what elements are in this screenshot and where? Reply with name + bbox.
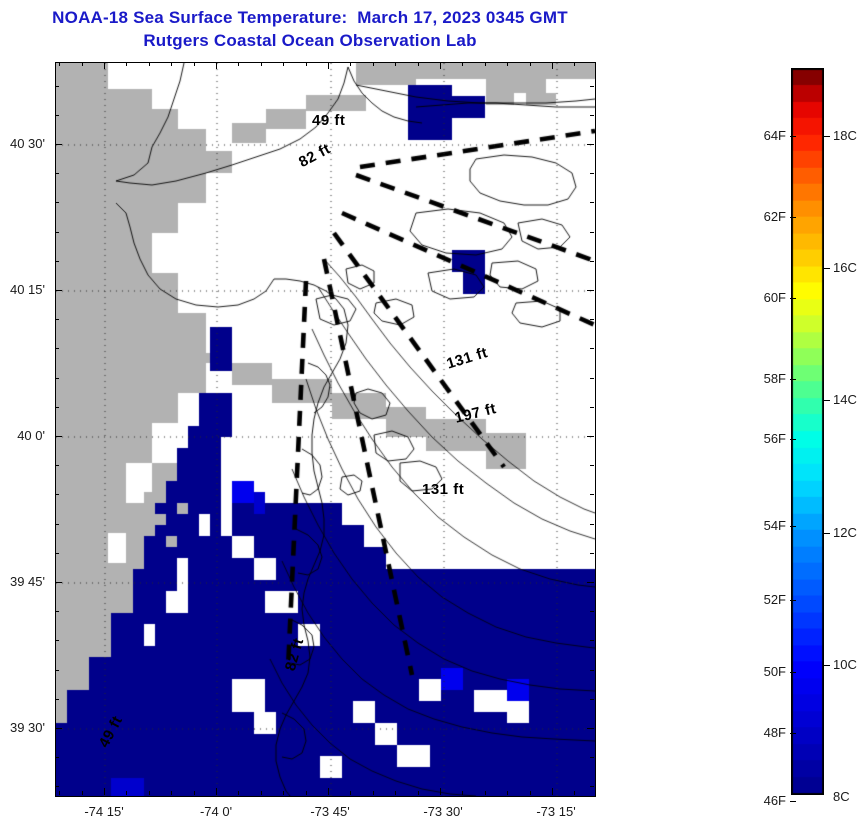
colorbar-f-label-7: 50F <box>740 664 786 679</box>
colorbar-f-label-9: 46F <box>740 793 786 808</box>
x-axis-tick <box>82 62 83 66</box>
y-axis-tick <box>587 728 594 729</box>
y-axis-tick <box>590 640 594 641</box>
y-axis-tick <box>55 699 59 700</box>
y-axis-tick <box>590 786 594 787</box>
y-axis-label-3: 39 45' <box>0 574 45 589</box>
x-axis-tick <box>350 62 351 66</box>
colorbar-c-label-1: 16C <box>833 260 857 275</box>
x-axis-tick <box>328 62 329 69</box>
x-axis-tick <box>171 62 172 66</box>
x-axis-tick <box>59 791 60 795</box>
x-axis-tick <box>440 788 441 795</box>
y-axis-label-4: 39 30' <box>0 720 45 735</box>
x-axis-tick <box>485 791 486 795</box>
x-axis-tick <box>306 62 307 66</box>
colorbar-f-tick <box>790 217 796 218</box>
y-axis-tick <box>590 232 594 233</box>
colorbar-f-tick <box>790 439 796 440</box>
y-axis-tick <box>55 232 59 233</box>
x-axis-tick <box>373 791 374 795</box>
y-axis-tick <box>55 670 59 671</box>
sst-map-panel[interactable] <box>55 62 596 797</box>
colorbar <box>791 68 824 795</box>
colorbar-c-tick <box>824 136 830 137</box>
colorbar-c-label-2: 14C <box>833 392 857 407</box>
colorbar-c-tick <box>824 268 830 269</box>
y-axis-tick <box>590 757 594 758</box>
colorbar-c-tick <box>824 533 830 534</box>
x-axis-tick <box>440 62 441 69</box>
x-axis-tick <box>104 788 105 795</box>
y-axis-tick <box>590 115 594 116</box>
y-axis-tick <box>55 611 59 612</box>
y-axis-tick <box>55 348 59 349</box>
y-axis-tick <box>590 524 594 525</box>
y-axis-tick <box>590 611 594 612</box>
x-axis-tick <box>306 791 307 795</box>
colorbar-f-tick <box>790 801 796 802</box>
x-axis-tick <box>194 62 195 66</box>
y-axis-tick <box>55 290 62 291</box>
x-axis-tick <box>283 791 284 795</box>
y-axis-tick <box>590 407 594 408</box>
colorbar-f-tick <box>790 136 796 137</box>
x-axis-label-4: -73 15' <box>524 804 588 819</box>
x-axis-tick <box>574 791 575 795</box>
y-axis-tick <box>55 728 62 729</box>
x-axis-tick <box>328 788 329 795</box>
y-axis-tick <box>590 173 594 174</box>
page-title: NOAA-18 Sea Surface Temperature: March 1… <box>0 6 620 29</box>
y-axis-tick <box>55 465 59 466</box>
y-axis-tick <box>587 436 594 437</box>
x-axis-tick <box>462 62 463 66</box>
x-axis-tick <box>552 788 553 795</box>
y-axis-tick <box>55 407 59 408</box>
colorbar-c-label-4: 10C <box>833 657 857 672</box>
colorbar-f-label-5: 54F <box>740 518 786 533</box>
y-axis-tick <box>55 378 59 379</box>
y-axis-tick <box>55 786 59 787</box>
colorbar-gradient <box>791 68 824 795</box>
y-axis-tick <box>55 582 62 583</box>
x-axis-tick <box>216 788 217 795</box>
y-axis-tick <box>590 378 594 379</box>
y-axis-tick <box>587 290 594 291</box>
x-axis-tick <box>395 62 396 66</box>
colorbar-f-label-6: 52F <box>740 592 786 607</box>
y-axis-tick <box>590 494 594 495</box>
y-axis-tick <box>55 86 59 87</box>
y-axis-tick <box>590 202 594 203</box>
x-axis-tick <box>149 62 150 66</box>
colorbar-f-tick <box>790 526 796 527</box>
depth-label-131-ft: 131 ft <box>422 481 464 498</box>
x-axis-label-3: -73 30' <box>411 804 475 819</box>
colorbar-f-label-3: 58F <box>740 371 786 386</box>
x-axis-tick <box>126 791 127 795</box>
y-axis-tick <box>55 115 59 116</box>
x-axis-tick <box>216 62 217 69</box>
x-axis-tick <box>418 791 419 795</box>
y-axis-tick <box>55 319 59 320</box>
x-axis-tick <box>507 62 508 66</box>
x-axis-tick <box>82 791 83 795</box>
y-axis-tick <box>55 144 62 145</box>
x-axis-tick <box>350 791 351 795</box>
x-axis-tick <box>104 62 105 69</box>
x-axis-tick <box>238 62 239 66</box>
x-axis-tick <box>373 62 374 66</box>
x-axis-tick <box>530 62 531 66</box>
x-axis-tick <box>418 62 419 66</box>
y-axis-tick <box>55 436 62 437</box>
colorbar-f-label-0: 64F <box>740 128 786 143</box>
y-axis-tick <box>587 144 594 145</box>
x-axis-tick <box>126 62 127 66</box>
colorbar-f-label-1: 62F <box>740 209 786 224</box>
y-axis-tick <box>590 699 594 700</box>
x-axis-tick <box>59 62 60 66</box>
x-axis-tick <box>574 62 575 66</box>
x-axis-tick <box>238 791 239 795</box>
x-axis-tick <box>171 791 172 795</box>
y-axis-label-2: 40 0' <box>0 428 45 443</box>
y-axis-tick <box>590 261 594 262</box>
chart-title-block: NOAA-18 Sea Surface Temperature: March 1… <box>0 6 620 52</box>
colorbar-c-label-3: 12C <box>833 525 857 540</box>
y-axis-tick <box>590 348 594 349</box>
colorbar-f-label-4: 56F <box>740 431 786 446</box>
x-axis-label-1: -74 0' <box>184 804 248 819</box>
y-axis-tick <box>55 173 59 174</box>
x-axis-tick <box>194 791 195 795</box>
colorbar-f-tick <box>790 600 796 601</box>
y-axis-tick <box>55 524 59 525</box>
depth-label-49-ft: 49 ft <box>312 112 345 129</box>
y-axis-tick <box>590 319 594 320</box>
x-axis-tick <box>395 791 396 795</box>
x-axis-tick <box>552 62 553 69</box>
y-axis-tick <box>590 465 594 466</box>
y-axis-tick <box>55 202 59 203</box>
colorbar-f-tick <box>790 733 796 734</box>
y-axis-tick <box>590 670 594 671</box>
y-axis-tick <box>587 582 594 583</box>
x-axis-tick <box>149 791 150 795</box>
colorbar-c-label-0: 18C <box>833 128 857 143</box>
y-axis-tick <box>590 86 594 87</box>
colorbar-f-tick <box>790 379 796 380</box>
x-axis-tick <box>530 791 531 795</box>
colorbar-f-label-8: 48F <box>740 725 786 740</box>
y-axis-tick <box>55 757 59 758</box>
colorbar-f-label-2: 60F <box>740 290 786 305</box>
y-axis-tick <box>55 494 59 495</box>
colorbar-c-label-5: 8C <box>833 789 850 804</box>
x-axis-tick <box>261 791 262 795</box>
x-axis-tick <box>485 62 486 66</box>
y-axis-tick <box>590 553 594 554</box>
colorbar-c-tick <box>824 665 830 666</box>
sst-heatmap-canvas[interactable] <box>56 63 595 796</box>
x-axis-tick <box>462 791 463 795</box>
x-axis-label-0: -74 15' <box>72 804 136 819</box>
y-axis-label-0: 40 30' <box>0 136 45 151</box>
y-axis-label-1: 40 15' <box>0 282 45 297</box>
x-axis-tick <box>283 62 284 66</box>
page-subtitle: Rutgers Coastal Ocean Observation Lab <box>0 29 620 52</box>
y-axis-tick <box>55 553 59 554</box>
colorbar-f-tick <box>790 298 796 299</box>
colorbar-c-tick <box>824 400 830 401</box>
x-axis-tick <box>261 62 262 66</box>
x-axis-tick <box>507 791 508 795</box>
x-axis-label-2: -73 45' <box>298 804 362 819</box>
y-axis-tick <box>55 261 59 262</box>
y-axis-tick <box>55 640 59 641</box>
colorbar-f-tick <box>790 672 796 673</box>
